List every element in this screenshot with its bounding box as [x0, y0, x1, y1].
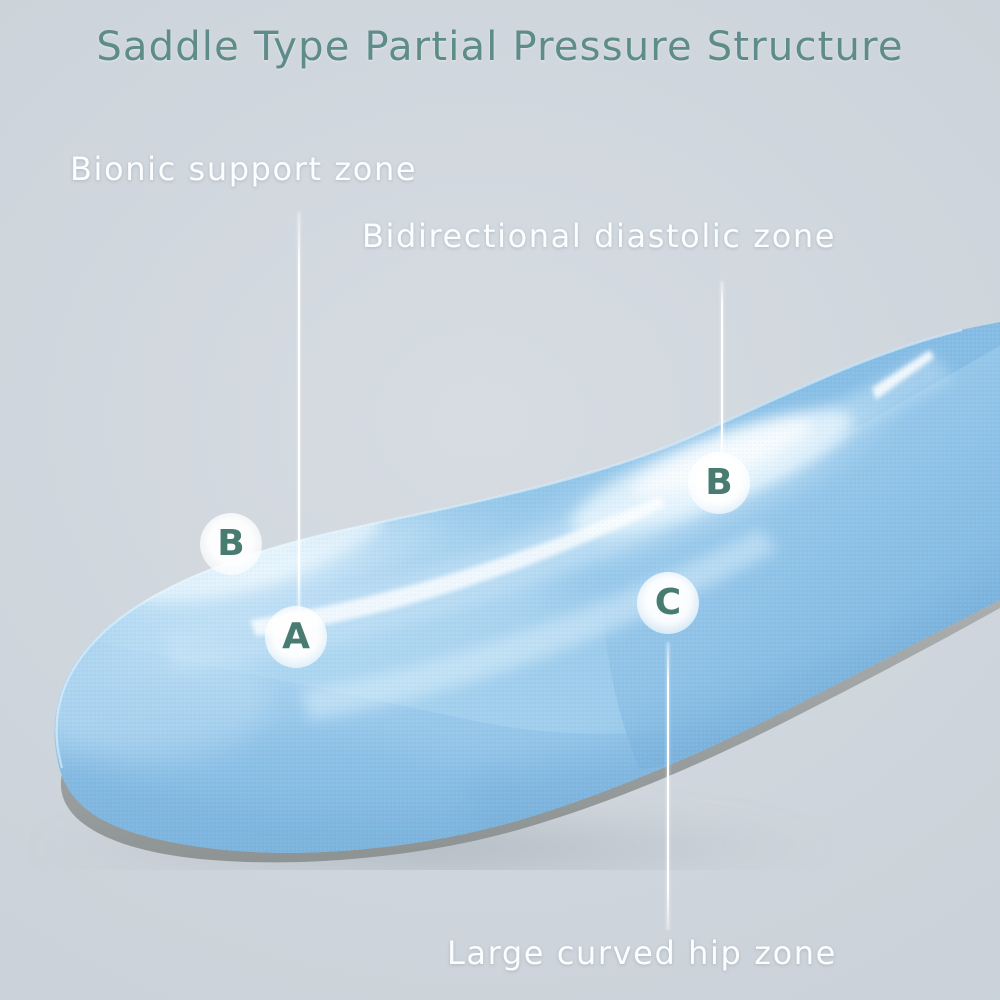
mesh-texture: [0, 300, 1000, 870]
callout-label-large-curved-hip: Large curved hip zone: [447, 934, 837, 972]
callout-label-bionic-support: Bionic support zone: [70, 150, 417, 188]
leader-line-bionic-support: [298, 212, 300, 627]
page-title: Saddle Type Partial Pressure Structure: [0, 24, 1000, 70]
zone-marker-a: A: [265, 606, 327, 668]
diagram-canvas: Saddle Type Partial Pressure Structure B…: [0, 0, 1000, 1000]
leader-line-bidirectional-diastolic: [721, 281, 723, 463]
product-illustration: [0, 300, 1000, 870]
zone-marker-c: C: [637, 572, 699, 634]
zone-marker-b-left: B: [200, 513, 262, 575]
leader-line-large-curved-hip: [667, 642, 669, 930]
zone-marker-b-right: B: [688, 452, 750, 514]
callout-label-bidirectional-diastolic: Bidirectional diastolic zone: [362, 217, 836, 255]
